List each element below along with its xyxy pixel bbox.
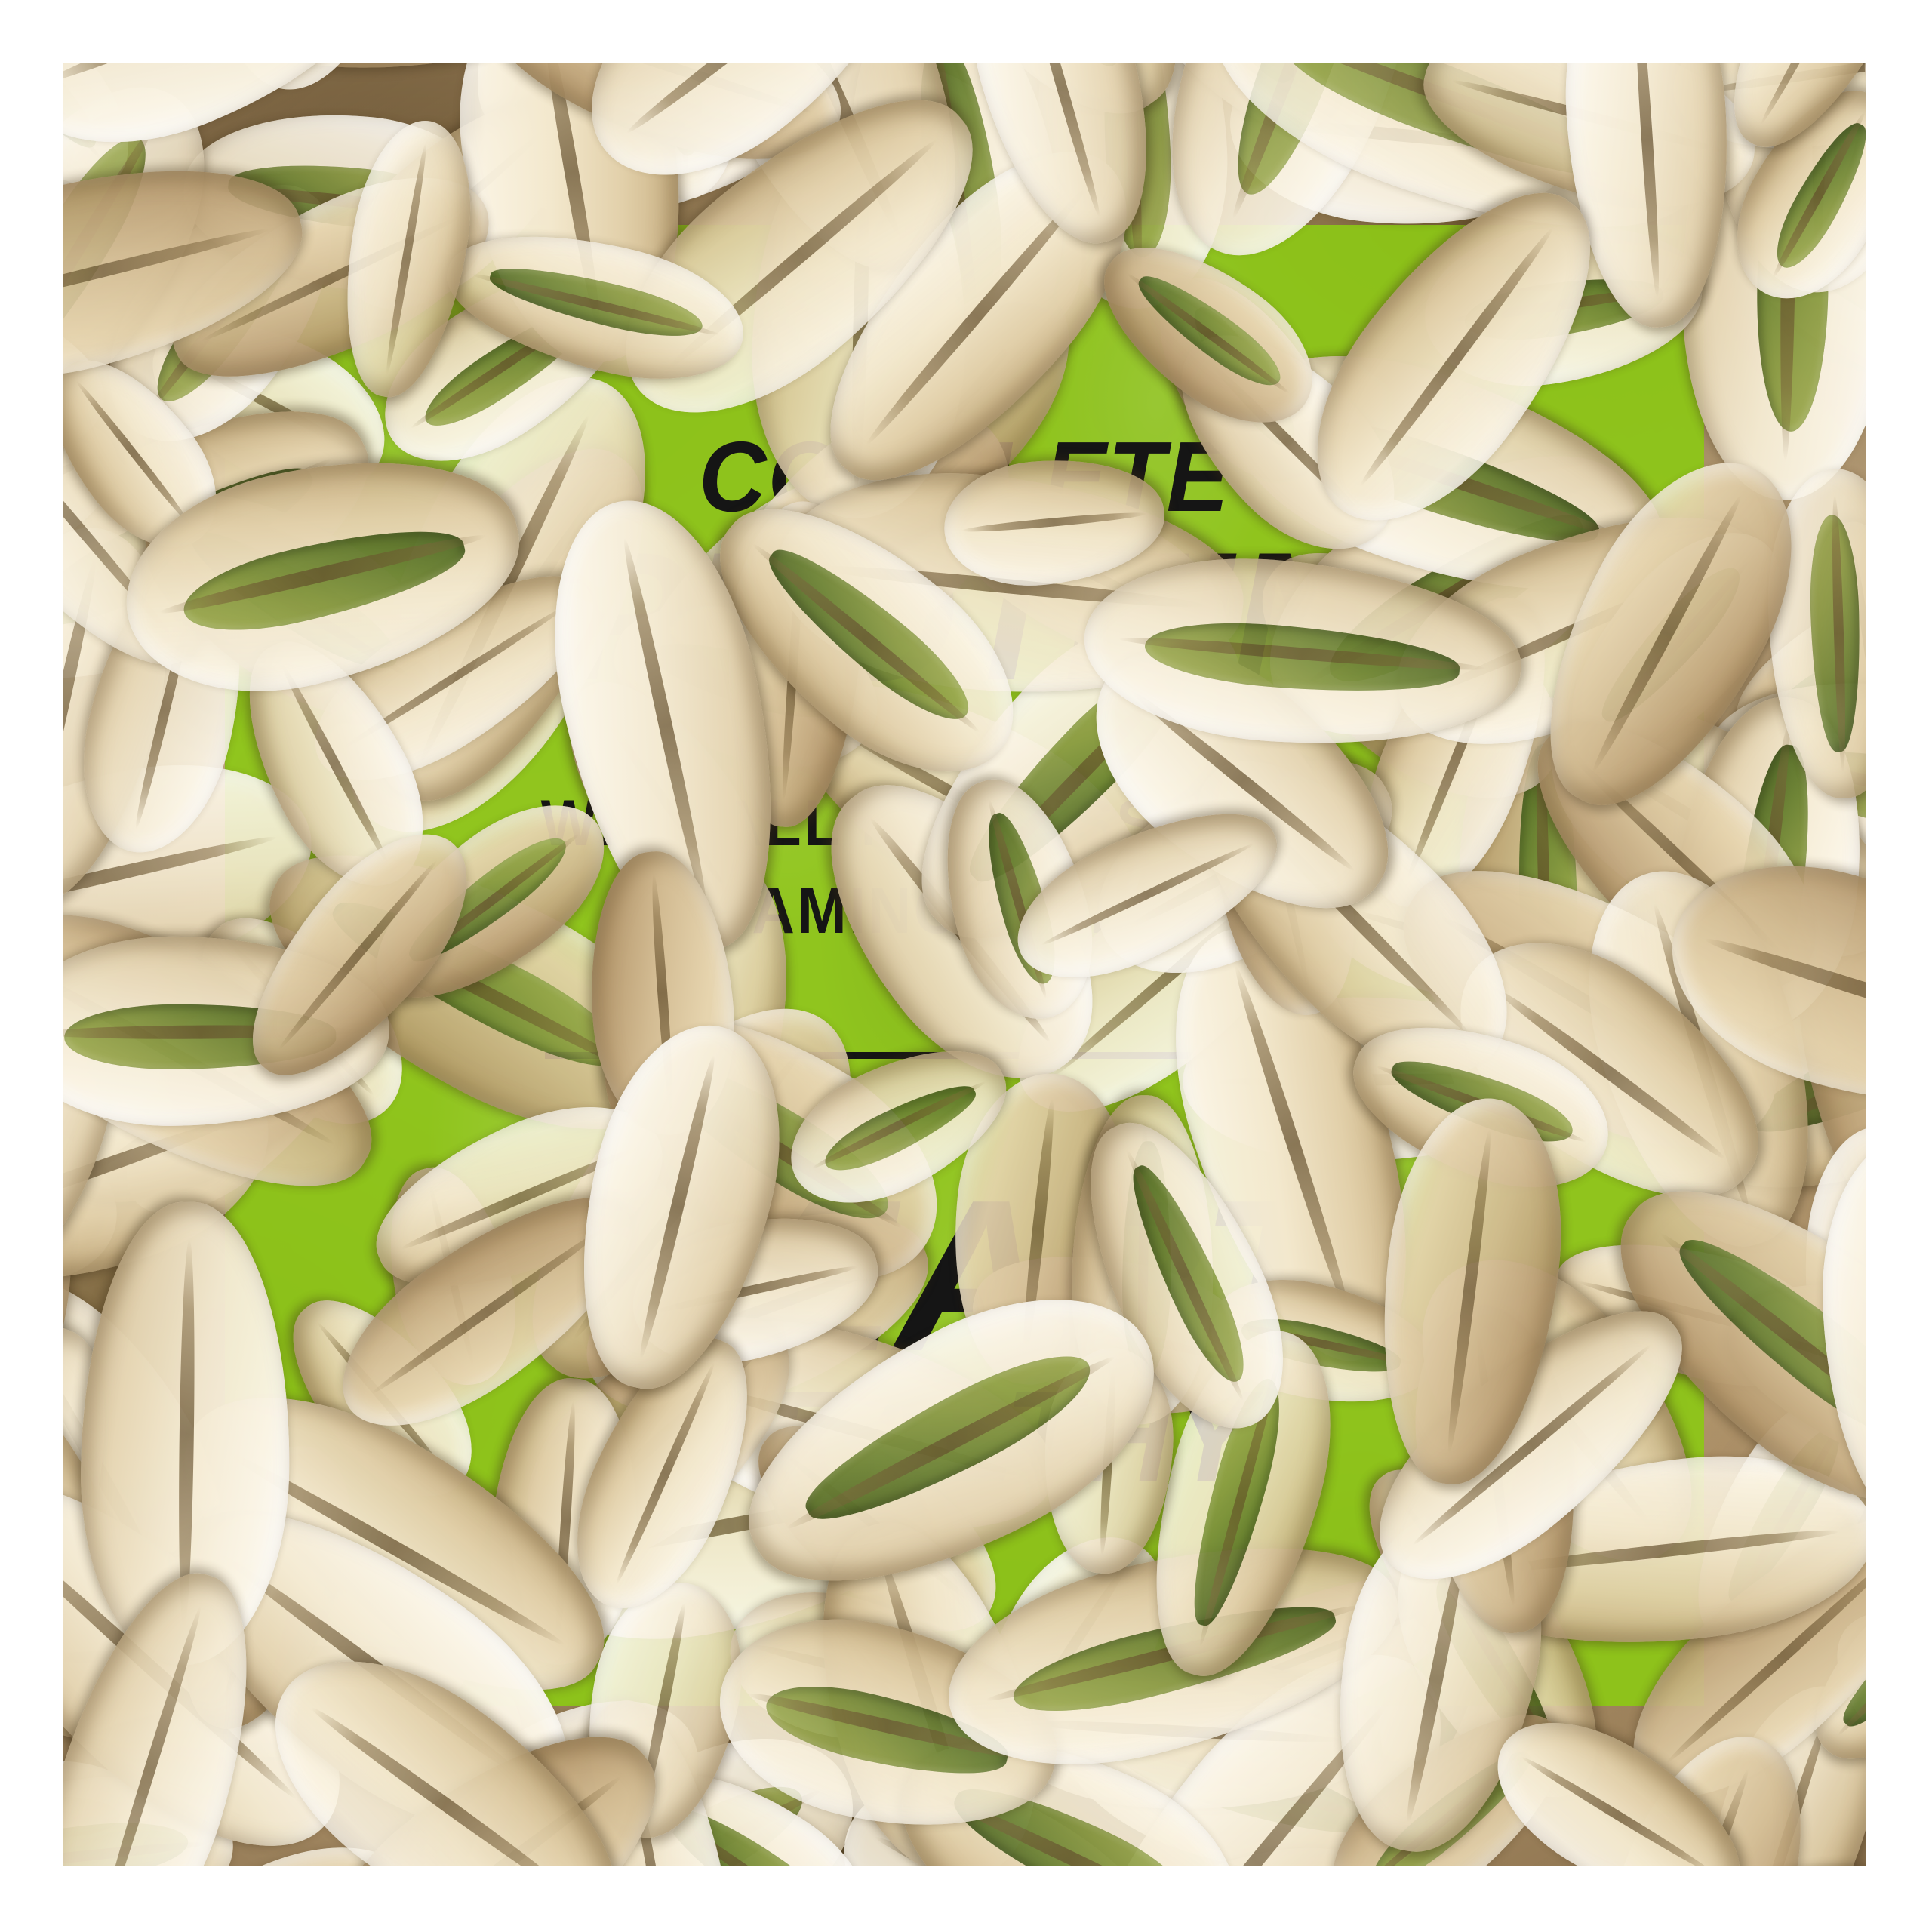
pistachio-nut-field — [63, 63, 1866, 1866]
product-feature-image: COMPLETE PROTEIN WITH ALL NINE ESSENTIAL… — [0, 0, 1932, 1932]
pistachio-photo — [63, 63, 1866, 1866]
